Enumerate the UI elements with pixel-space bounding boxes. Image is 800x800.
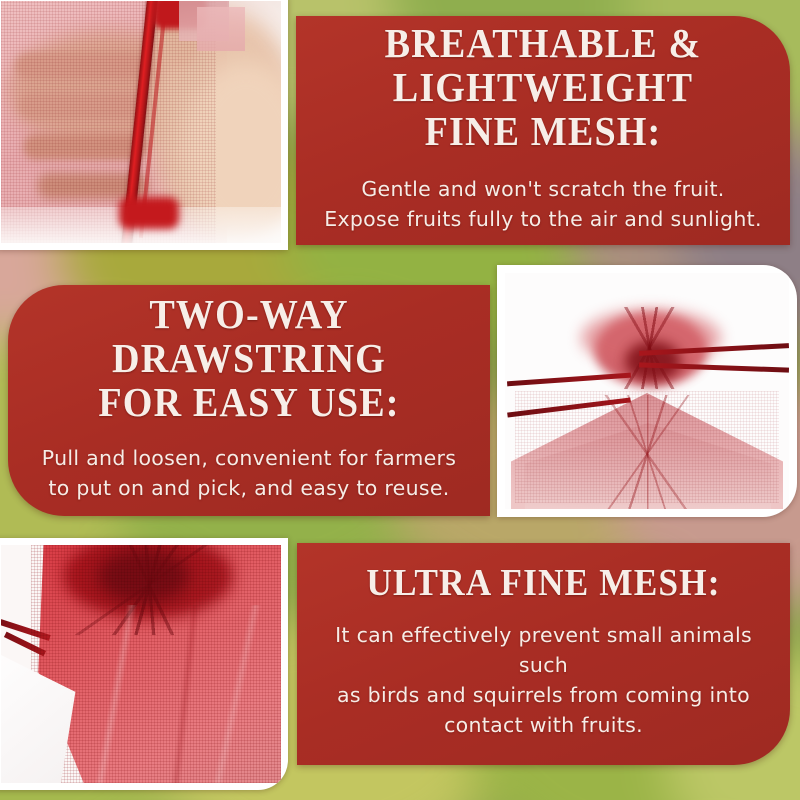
panel-body-line1: It can effectively prevent small animals… [335,623,752,677]
panel-body: Gentle and won't scratch the fruit. Expo… [324,175,762,235]
panel-heading-line2: FOR EASY USE: [98,379,399,425]
panel-body-line2: to put on and pick, and easy to reuse. [48,476,449,500]
photo-hand-in-mesh-bag [0,0,288,250]
panel-body-line2: Expose fruits fully to the air and sunli… [324,207,762,231]
panel-heading: ULTRA FINE MESH: [366,563,720,604]
panel-heading-line1: TWO-WAY DRAWSTRING [112,291,386,381]
panel-body: Pull and loosen, convenient for farmers … [42,444,456,504]
panel-body: It can effectively prevent small animals… [313,621,774,741]
panel-body-line1: Pull and loosen, convenient for farmers [42,446,456,470]
panel-body-line3: contact with fruits. [444,713,643,737]
panel-breathable-lightweight: BREATHABLE & LIGHTWEIGHT FINE MESH: Gent… [296,16,790,245]
photo-mesh-closeup [0,538,288,790]
panel-ultra-fine-mesh: ULTRA FINE MESH: It can effectively prev… [297,543,790,765]
panel-two-way-drawstring: TWO-WAY DRAWSTRING FOR EASY USE: Pull an… [8,285,490,516]
panel-heading-line1: BREATHABLE & LIGHTWEIGHT [385,20,702,110]
panel-heading-line2: FINE MESH: [425,108,662,154]
photo-closed-bag-drawstrings [497,265,797,517]
panel-body-line2: as birds and squirrels from coming into [337,683,750,707]
panel-body-line1: Gentle and won't scratch the fruit. [361,177,724,201]
infographic-canvas: BREATHABLE & LIGHTWEIGHT FINE MESH: Gent… [0,0,800,800]
panel-heading: BREATHABLE & LIGHTWEIGHT FINE MESH: [326,22,759,154]
panel-heading-line1: ULTRA FINE MESH: [366,562,720,604]
panel-heading: TWO-WAY DRAWSTRING FOR EASY USE: [40,293,459,425]
